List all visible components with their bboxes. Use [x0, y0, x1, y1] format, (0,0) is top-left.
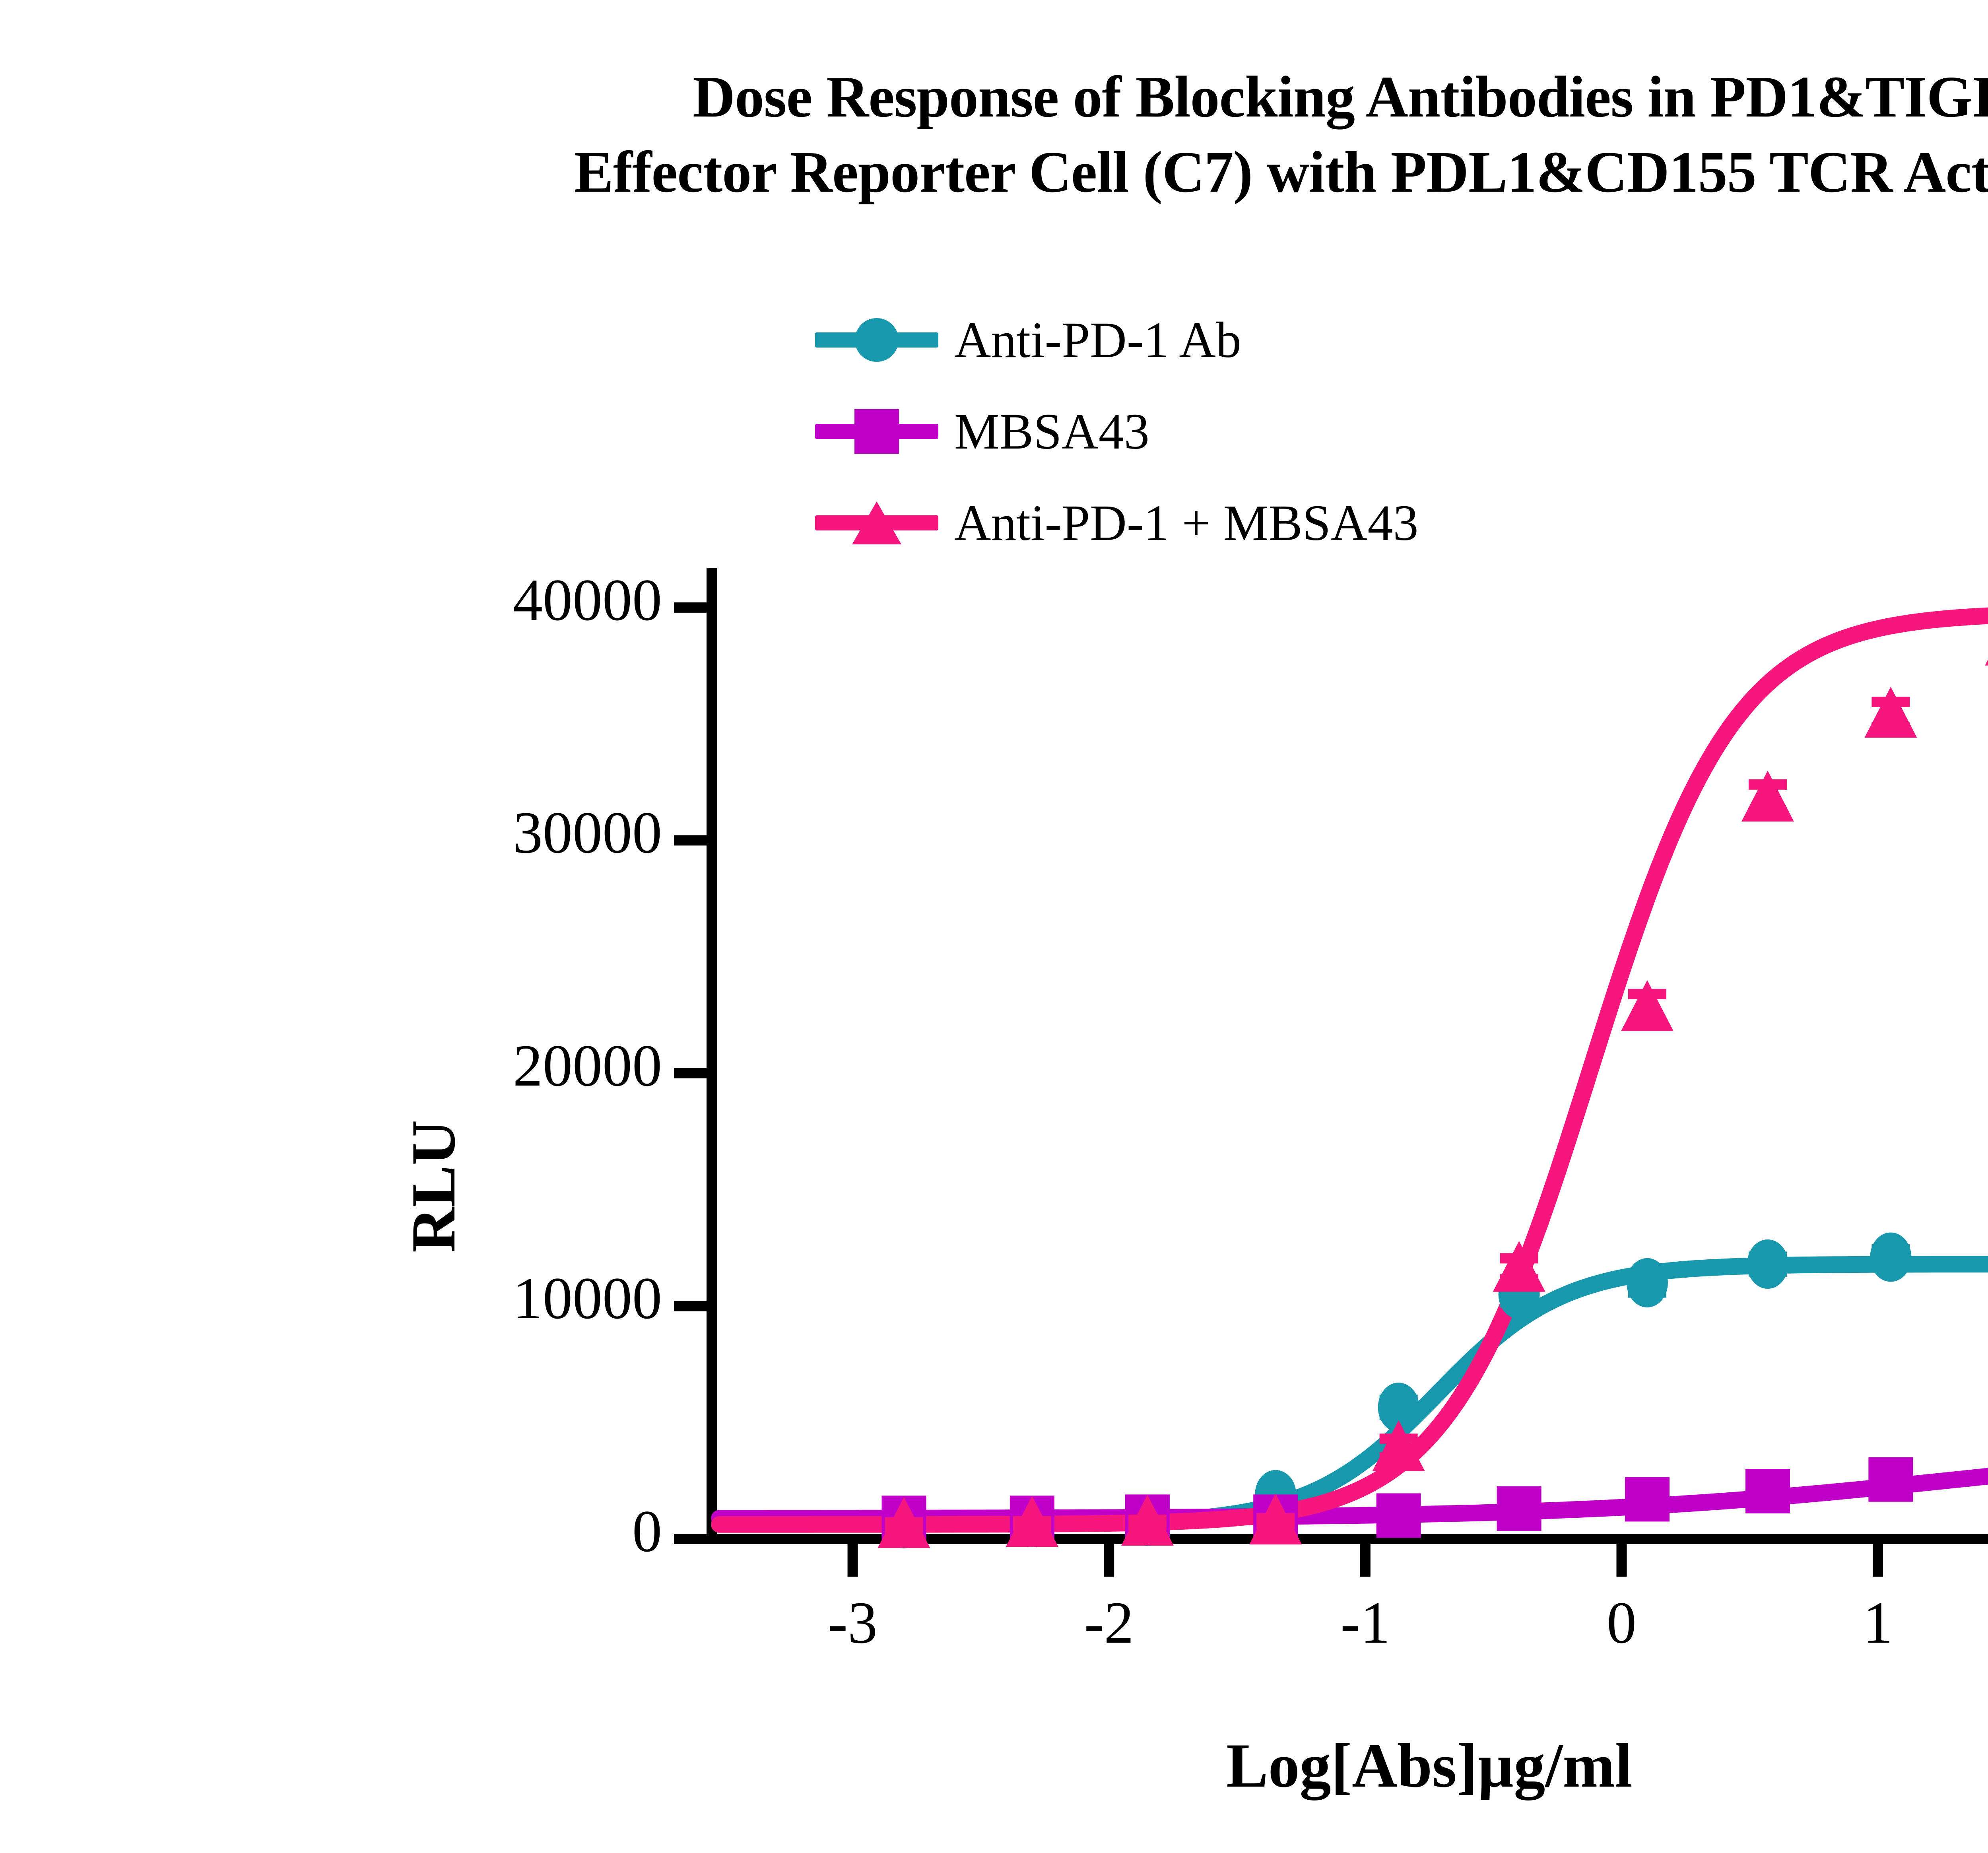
data-point-circle	[1870, 1232, 1911, 1282]
y-axis-title: RLU	[398, 1120, 470, 1253]
x-tick-label: 0	[1558, 1589, 1685, 1657]
x-tick-label: -2	[1045, 1589, 1173, 1657]
data-point-circle	[1627, 1258, 1668, 1307]
plot-area: 010000200003000040000 -3-2-1012 RLU Log[…	[0, 0, 1988, 1853]
y-tick-label: 0	[632, 1497, 662, 1566]
data-point-square	[1376, 1493, 1421, 1538]
y-tick-label: 30000	[513, 798, 662, 867]
data-point-square	[1625, 1477, 1670, 1521]
data-point-square	[1868, 1457, 1913, 1502]
data-point-triangle	[1621, 980, 1673, 1031]
y-tick-label: 20000	[513, 1031, 662, 1100]
x-tick-label: 1	[1814, 1589, 1941, 1657]
data-point-circle	[1747, 1239, 1788, 1289]
series-curve-2	[719, 613, 1988, 1525]
x-axis-title: Log[Abs]µg/ml	[632, 1730, 1988, 1802]
y-tick-label: 10000	[513, 1264, 662, 1332]
x-tick-label: -3	[789, 1589, 916, 1657]
plot-canvas	[0, 0, 1988, 1853]
data-point-triangle	[1741, 771, 1794, 822]
y-tick-label: 40000	[513, 566, 662, 634]
chart-figure: Dose Response of Blocking Antibodies in …	[0, 0, 1988, 1853]
data-point-square	[1497, 1486, 1541, 1531]
x-tick-label: -1	[1302, 1589, 1429, 1657]
data-point-triangle	[1864, 687, 1917, 738]
data-point-square	[1745, 1469, 1790, 1513]
